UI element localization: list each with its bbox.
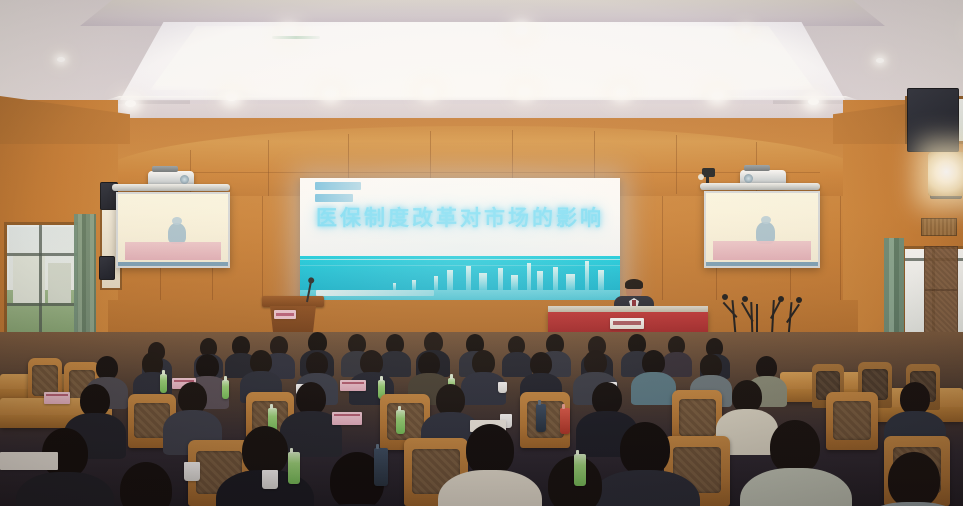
- podium-sign: [274, 310, 296, 319]
- water-bottle: [222, 380, 229, 399]
- downlight-icon: [519, 88, 530, 95]
- water-bottle: [536, 404, 546, 432]
- downlight-icon: [808, 98, 819, 105]
- downlight-icon: [516, 27, 527, 34]
- water-bottle: [374, 448, 388, 486]
- water-bottle: [288, 452, 300, 484]
- nameplate: [610, 318, 644, 329]
- side-screen-left: [116, 192, 230, 268]
- document: [0, 452, 58, 470]
- paper-cup: [498, 382, 507, 393]
- paper-cup: [262, 470, 278, 489]
- air-vent-grille: [921, 218, 957, 236]
- ceiling-lip: [104, 96, 861, 101]
- ceiling-light-panel-core: [150, 26, 815, 90]
- loudspeaker-icon: [907, 88, 959, 152]
- downlight-icon: [57, 57, 65, 62]
- conference-hall-photo: 医保制度改革对市场的影响: [0, 0, 963, 506]
- downlight-icon: [742, 28, 750, 33]
- microphone-icon: [778, 296, 784, 302]
- downlight-icon: [283, 29, 294, 36]
- acoustic-panel: [924, 290, 958, 334]
- name-card: [340, 380, 366, 391]
- chair: [826, 392, 878, 450]
- downlight-icon: [876, 58, 884, 63]
- water-bottle: [574, 454, 586, 486]
- downlight-icon: [712, 92, 723, 99]
- name-card: [332, 412, 362, 425]
- main-projection-screen: 医保制度改革对市场的影响: [300, 178, 620, 320]
- downlight-icon: [616, 89, 627, 96]
- side-screen-right: [704, 191, 820, 268]
- projection-screen-roller-right: [700, 183, 820, 190]
- loudspeaker-icon: [99, 256, 115, 280]
- projection-screen-roller-left: [112, 184, 230, 191]
- microphone-icon: [796, 297, 802, 303]
- water-bottle: [160, 374, 167, 393]
- downlight-icon: [125, 100, 136, 107]
- name-card: [44, 392, 70, 404]
- downlight-icon: [423, 88, 434, 95]
- acoustic-panel: [924, 246, 958, 290]
- water-bottle: [396, 410, 405, 434]
- skyline-graphic: [300, 256, 620, 290]
- microphone-icon: [742, 296, 748, 302]
- paper-cup: [184, 462, 200, 481]
- downlight-icon: [226, 94, 237, 101]
- microphone-icon: [722, 294, 728, 300]
- wall-sconce-light: [928, 152, 963, 196]
- downlight-icon: [325, 90, 336, 97]
- slide-title: 医保制度改革对市场的影响: [300, 202, 620, 232]
- slide-credit-line-1: [316, 290, 434, 296]
- water-bottle: [560, 408, 570, 434]
- strip-light: [272, 36, 320, 39]
